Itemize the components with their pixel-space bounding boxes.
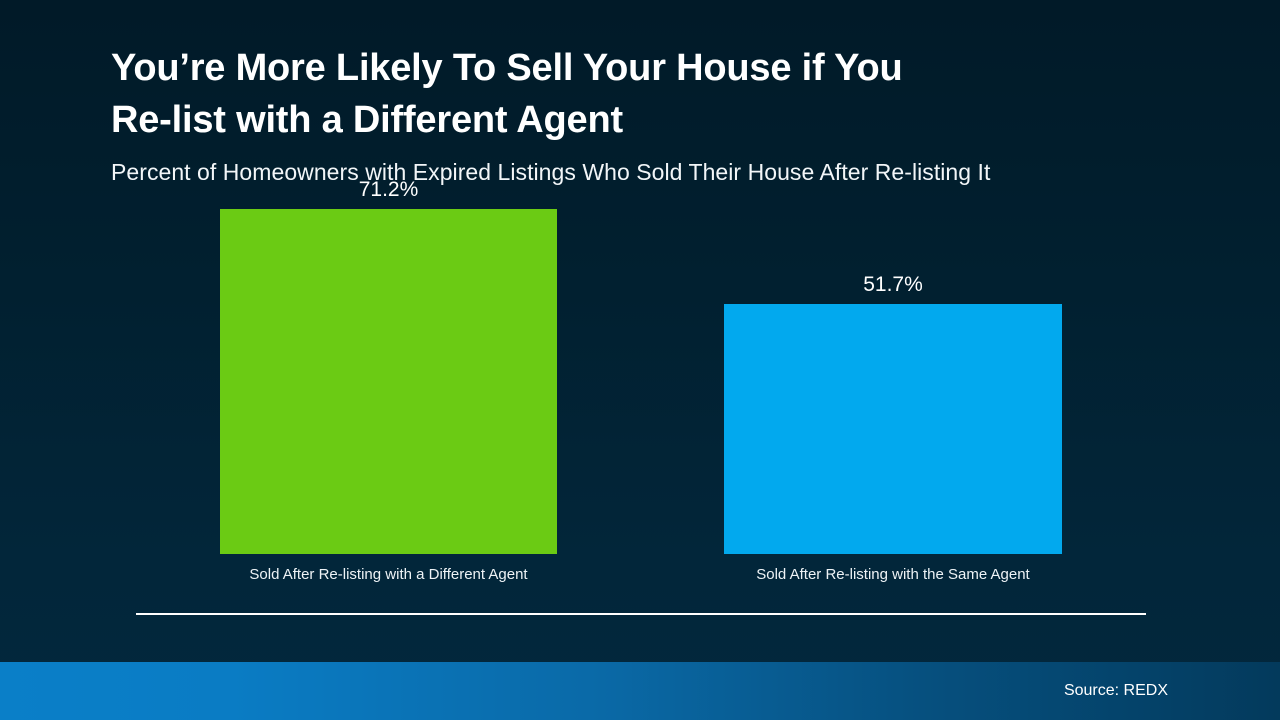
bar-group-different-agent: 71.2% Sold After Re-listing with a Diffe… <box>220 209 557 554</box>
bar-category-label-same-agent: Sold After Re-listing with the Same Agen… <box>684 565 1102 585</box>
bar-same-agent <box>724 304 1062 554</box>
bar-value-label-different-agent: 71.2% <box>220 177 557 203</box>
bar-value-label-same-agent: 51.7% <box>724 272 1062 298</box>
bar-different-agent <box>220 209 557 554</box>
footer-bar: Source: REDX <box>0 662 1280 720</box>
bar-group-same-agent: 51.7% Sold After Re-listing with the Sam… <box>724 304 1062 554</box>
slide-canvas: You’re More Likely To Sell Your House if… <box>0 0 1280 720</box>
source-attribution: Source: REDX <box>1064 680 1168 702</box>
bar-chart-plot-area: 71.2% Sold After Re-listing with a Diffe… <box>0 0 1280 660</box>
x-axis-baseline <box>136 613 1146 615</box>
bar-category-label-different-agent: Sold After Re-listing with a Different A… <box>180 565 597 585</box>
